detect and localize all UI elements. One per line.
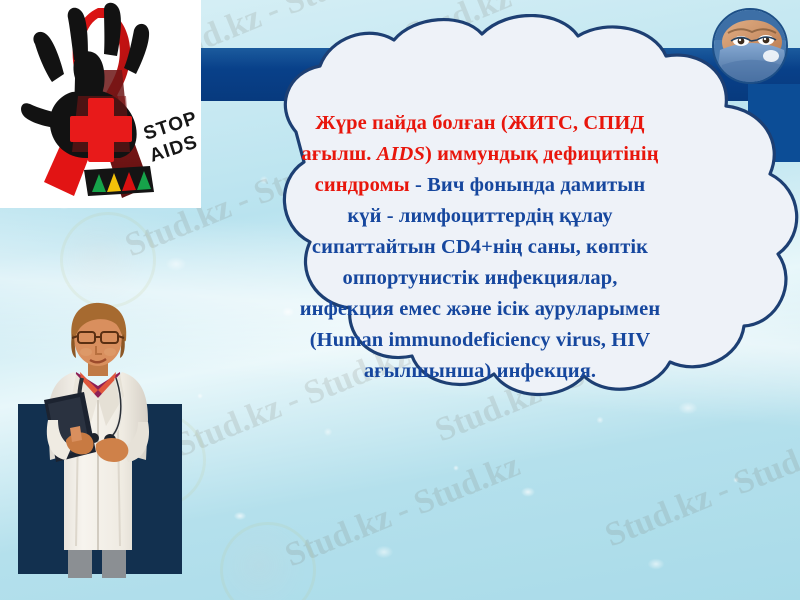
callout-line-4: күй - лимфоциттердің құлау (238, 201, 722, 232)
watermark-logo-ring (220, 522, 316, 600)
callout-line-5: сипаттайтын CD4+нің саны, көптік (238, 232, 722, 263)
presentation-slide: Stud.kz - Stud.kzStud.kz - Stud.kzStud.k… (0, 0, 800, 600)
callout-segment: күй - лимфоциттердің құлау (347, 205, 612, 227)
callout-line-9: ағылшынша) инфекция. (238, 356, 722, 387)
watermark-logo-ring (60, 212, 156, 308)
callout-line-2: ағылш. AIDS) иммундық дефицитінің (238, 139, 722, 170)
callout-line-8: (Human immunodeficiency virus, HIV (238, 325, 722, 356)
callout-text: Жүре пайда болған (ЖИТС, СПИДағылш. AIDS… (238, 108, 722, 387)
callout-line-7: инфекция емес және ісік ауруларымен (238, 294, 722, 325)
callout-segment: ) иммундық дефицитінің (425, 143, 659, 165)
watermark-text: Stud.kz - Stud.kz (600, 427, 800, 556)
callout-line-3: синдромы - Вич фонында дамитын (238, 170, 722, 201)
watermark-text: Stud.kz - Stud.kz (280, 447, 525, 576)
callout-segment: оппортунистік инфекциялар, (342, 267, 617, 289)
callout-segment: ағылш. (301, 143, 376, 165)
callout-segment: - Вич фонында дамитын (410, 174, 646, 196)
callout-line-6: оппортунистік инфекциялар, (238, 263, 722, 294)
callout-segment: AIDS (377, 143, 425, 165)
aids-awareness-emblem: STOP AIDS (0, 0, 201, 208)
callout-segment: ағылшынша) инфекция. (364, 360, 596, 382)
callout-segment: Жүре пайда болған (ЖИТС, СПИД (315, 112, 644, 134)
callout-segment: синдромы (315, 174, 410, 196)
callout-segment: инфекция емес және ісік ауруларымен (300, 298, 660, 320)
callout-segment: сипаттайтын CD4+нің саны, көптік (312, 236, 648, 258)
callout-line-1: Жүре пайда болған (ЖИТС, СПИД (238, 108, 722, 139)
callout-segment: (Human immunodeficiency virus, HIV (310, 329, 651, 351)
doctor-illustration (10, 300, 200, 600)
